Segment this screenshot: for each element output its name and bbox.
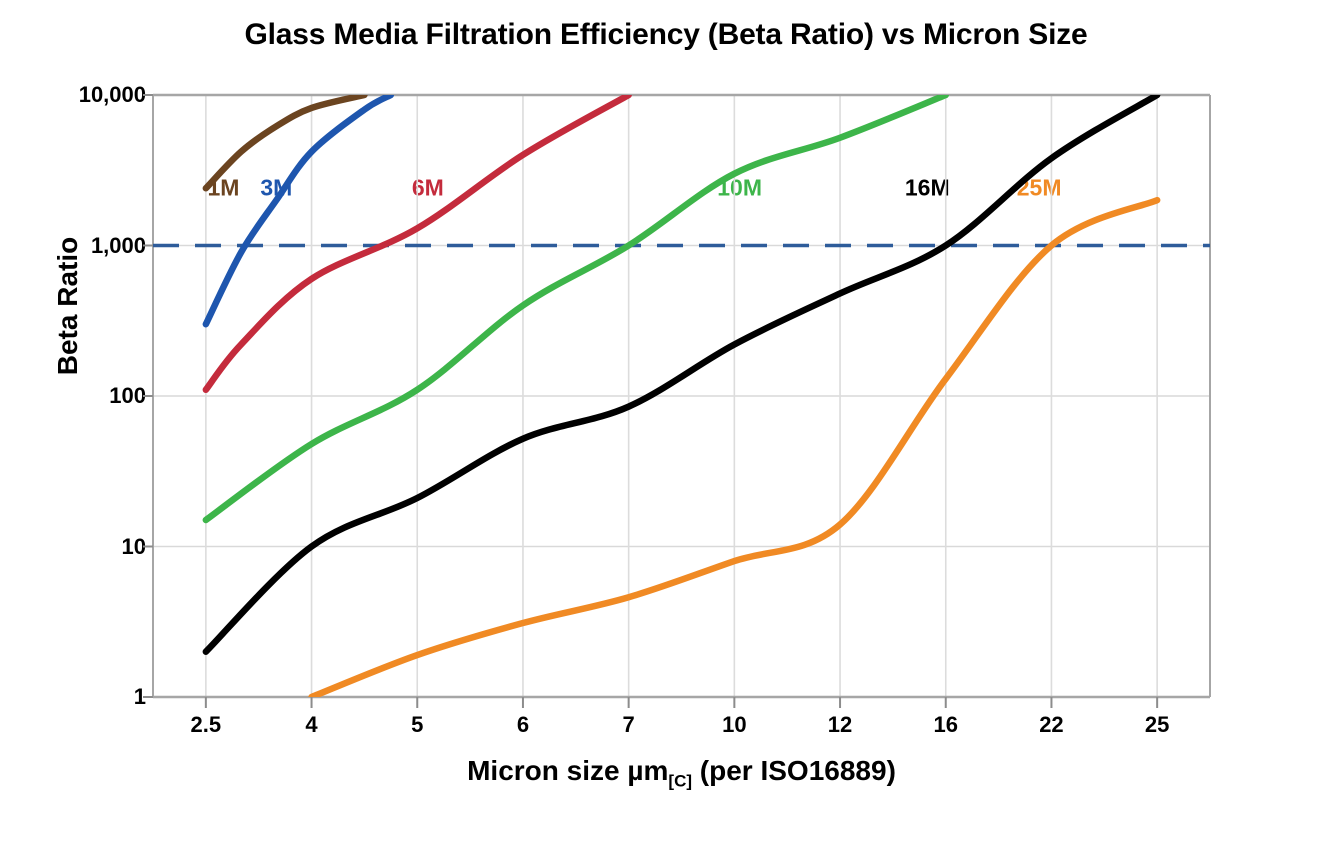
- series-curve-1m: [206, 95, 365, 188]
- axis-ticks: [143, 95, 1157, 708]
- series-curve-10m: [206, 95, 946, 520]
- chart-container: Glass Media Filtration Efficiency (Beta …: [0, 0, 1332, 842]
- plot-area: [0, 0, 1332, 842]
- gridlines: [153, 95, 1210, 697]
- series-curve-16m: [206, 95, 1157, 652]
